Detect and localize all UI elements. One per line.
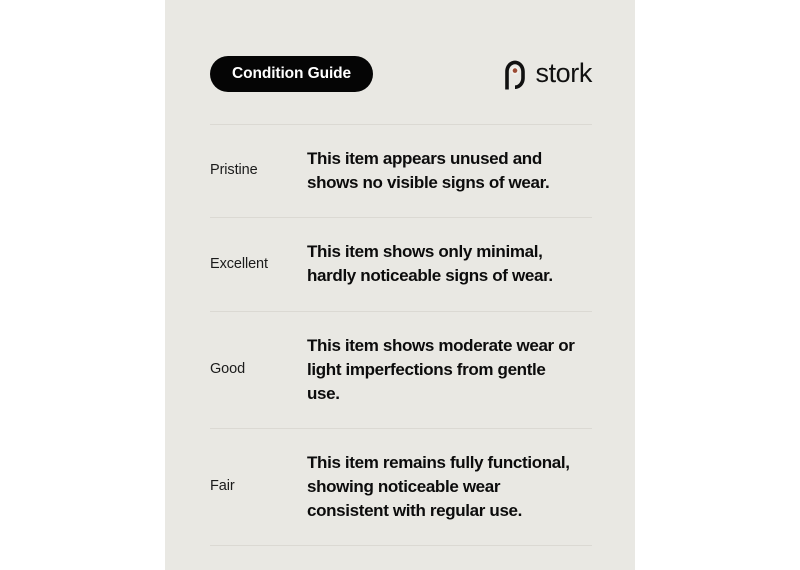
condition-description: This item shows moderate wear or light i… <box>307 334 592 406</box>
description-line: consistent with regular use. <box>307 499 592 523</box>
description-line: hardly noticeable signs of wear. <box>307 264 592 288</box>
description-line: This item shows only minimal, <box>307 240 592 264</box>
condition-guide-card: Condition Guide stork Pristine This item… <box>165 0 635 570</box>
condition-guide-table: Pristine This item appears unused and sh… <box>210 124 592 546</box>
screenshot-canvas: Condition Guide stork Pristine This item… <box>0 0 800 570</box>
table-row: Good This item shows moderate wear or li… <box>210 312 592 428</box>
description-line: showing noticeable wear <box>307 475 592 499</box>
row-divider <box>210 545 592 546</box>
condition-description: This item appears unused and shows no vi… <box>307 147 592 195</box>
condition-label: Pristine <box>210 162 307 179</box>
table-row: Excellent This item shows only minimal, … <box>210 218 592 310</box>
description-line: shows no visible signs of wear. <box>307 171 592 195</box>
brand-lockup: stork <box>502 58 592 90</box>
description-line: light imperfections from gentle <box>307 358 592 382</box>
condition-guide-badge: Condition Guide <box>210 56 373 92</box>
brand-name: stork <box>535 60 592 89</box>
description-line: This item appears unused and <box>307 147 592 171</box>
table-row: Pristine This item appears unused and sh… <box>210 125 592 217</box>
description-line: use. <box>307 382 592 406</box>
condition-description: This item shows only minimal, hardly not… <box>307 240 592 288</box>
condition-description: This item remains fully functional, show… <box>307 451 592 523</box>
condition-label: Fair <box>210 478 307 495</box>
description-line: This item remains fully functional, <box>307 451 592 475</box>
description-line: This item shows moderate wear or <box>307 334 592 358</box>
card-header: Condition Guide stork <box>210 56 592 92</box>
stork-arch-icon <box>502 58 528 90</box>
table-row: Fair This item remains fully functional,… <box>210 429 592 545</box>
condition-label: Good <box>210 361 307 378</box>
condition-label: Excellent <box>210 256 307 273</box>
